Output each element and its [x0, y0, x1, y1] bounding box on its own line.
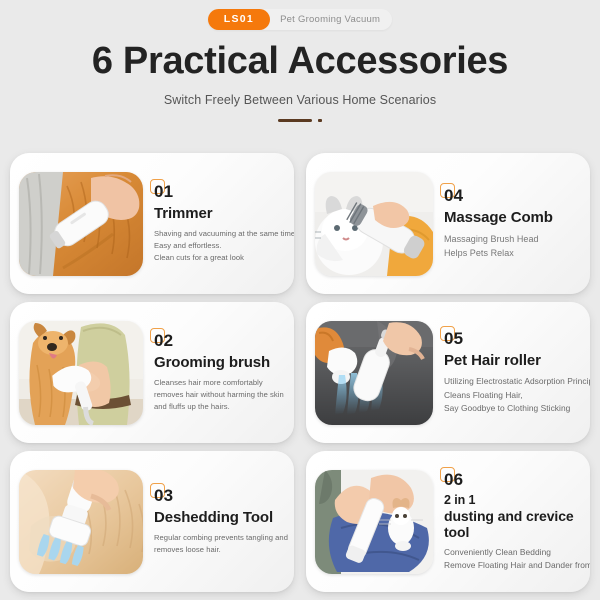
accessory-card-02[interactable]: 02 Grooming brush Cleanses hair more com… [10, 302, 294, 443]
accessory-card-06[interactable]: 06 2 in 1 dusting and crevice tool Conve… [306, 451, 590, 592]
accessory-desc-line: Utilizing Electrostatic Adsorption Princ… [444, 375, 577, 389]
accessory-desc-line: and fluffs up the hairs. [154, 401, 281, 413]
accessory-desc-line: Cleans Floating Hair, [444, 389, 577, 403]
accessory-info-05: 05 Pet Hair roller Utilizing Electrostat… [433, 329, 581, 416]
product-badge-row: LS01 Pet Grooming Vacuum [0, 9, 600, 30]
accessory-desc-line: removes hair without harming the skin [154, 389, 281, 401]
accessory-number-03: 03 [154, 486, 173, 505]
accessory-title-06-line2: dusting and crevice tool [444, 508, 577, 541]
page-title: 6 Practical Accessories [0, 40, 600, 83]
accessory-desc-line: Remove Floating Hair and Dander from Sof… [444, 559, 577, 573]
accessory-title-06: 2 in 1 dusting and crevice tool [444, 493, 577, 541]
accessory-title-03: Deshedding Tool [154, 509, 281, 527]
accessory-info-03: 03 Deshedding Tool Regular combing preve… [143, 486, 285, 556]
accessory-desc-line: Massaging Brush Head [444, 232, 577, 247]
accessory-image-crevice-tool [315, 470, 433, 574]
accessory-card-03[interactable]: 03 Deshedding Tool Regular combing preve… [10, 451, 294, 592]
accessory-number-wrap-02: 02 [154, 331, 173, 351]
accessory-number-wrap-04: 04 [444, 186, 463, 206]
accessory-number-wrap-01: 01 [154, 182, 173, 202]
accessory-desc-line: Helps Pets Relax [444, 246, 577, 261]
accessory-image-deshedding-tool [19, 470, 143, 574]
accessory-info-01: 01 Trimmer Shaving and vacuuming at the … [143, 182, 285, 265]
accessory-desc-line: Regular combing prevents tangling and [154, 532, 281, 544]
divider-dot [318, 119, 322, 122]
accessory-number-02: 02 [154, 331, 173, 350]
accessory-title-01: Trimmer [154, 205, 281, 223]
accessory-desc-line: Cleanses hair more comfortably [154, 377, 281, 389]
accessory-info-04: 04 Massage Comb Massaging Brush Head Hel… [433, 186, 581, 261]
divider [0, 119, 600, 122]
accessory-desc-line: Easy and effortless. [154, 240, 281, 252]
accessory-title-05: Pet Hair roller [444, 352, 577, 370]
accessory-desc-line: Say Goodbye to Clothing Sticking [444, 402, 577, 416]
accessory-number-wrap-05: 05 [444, 329, 463, 349]
accessory-image-hair-roller [315, 321, 433, 425]
accessory-info-06: 06 2 in 1 dusting and crevice tool Conve… [433, 470, 581, 573]
accessory-number-05: 05 [444, 329, 463, 348]
accessory-number-wrap-06: 06 [444, 470, 463, 490]
accessory-title-04: Massage Comb [444, 209, 577, 227]
accessory-title-02: Grooming brush [154, 354, 281, 372]
product-model-pill: LS01 [208, 9, 270, 30]
accessory-number-06: 06 [444, 470, 463, 489]
accessory-number-01: 01 [154, 182, 173, 201]
accessory-card-01[interactable]: 01 Trimmer Shaving and vacuuming at the … [10, 153, 294, 294]
accessory-image-grooming-brush [19, 321, 143, 425]
divider-bar [278, 119, 312, 122]
page-subtitle: Switch Freely Between Various Home Scena… [0, 93, 600, 107]
accessory-image-trimmer [19, 172, 143, 276]
accessory-image-massage-comb [315, 172, 433, 276]
accessory-card-04[interactable]: 04 Massage Comb Massaging Brush Head Hel… [306, 153, 590, 294]
accessories-grid: 01 Trimmer Shaving and vacuuming at the … [0, 153, 600, 600]
product-badge: LS01 Pet Grooming Vacuum [208, 9, 392, 30]
product-category-label: Pet Grooming Vacuum [270, 14, 380, 25]
accessory-title-06-line1: 2 in 1 [444, 493, 475, 507]
accessory-number-04: 04 [444, 186, 463, 205]
accessory-desc-line: Conveniently Clean Bedding [444, 546, 577, 560]
accessory-number-wrap-03: 03 [154, 486, 173, 506]
accessory-desc-line: Shaving and vacuuming at the same time. [154, 228, 281, 240]
accessory-desc-line: Clean cuts for a great look [154, 252, 281, 264]
accessory-info-02: 02 Grooming brush Cleanses hair more com… [143, 331, 285, 414]
page-header: LS01 Pet Grooming Vacuum 6 Practical Acc… [0, 0, 600, 122]
accessory-desc-line: removes loose hair. [154, 544, 281, 556]
accessory-card-05[interactable]: 05 Pet Hair roller Utilizing Electrostat… [306, 302, 590, 443]
